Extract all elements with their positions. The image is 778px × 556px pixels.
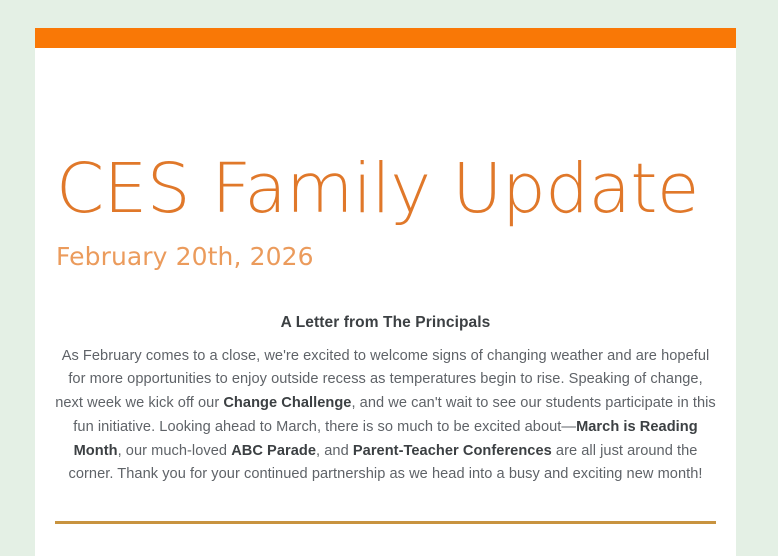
- letter-bold-change-challenge: Change Challenge: [223, 395, 351, 411]
- letter-bold-parent-teacher-conferences: Parent-Teacher Conferences: [353, 443, 552, 459]
- newsletter-title: CES Family Update: [56, 48, 716, 224]
- principals-letter-section: A Letter from The Principals As February…: [35, 314, 736, 488]
- letter-text-part-3: , our much-loved: [118, 443, 232, 459]
- newsletter-card: CES Family Update February 20th, 2026 A …: [35, 28, 736, 556]
- accent-bar: [35, 28, 736, 48]
- newsletter-page: CES Family Update February 20th, 2026 A …: [0, 0, 778, 556]
- letter-paragraph: As February comes to a close, we're exci…: [55, 332, 716, 488]
- card-body: CES Family Update February 20th, 2026 A …: [35, 48, 736, 524]
- letter-bold-abc-parade: ABC Parade: [231, 443, 316, 459]
- divider-container: [35, 521, 736, 524]
- masthead: CES Family Update February 20th, 2026: [35, 48, 736, 271]
- letter-heading: A Letter from The Principals: [55, 314, 716, 332]
- letter-text-part-4: , and: [316, 443, 353, 459]
- newsletter-date: February 20th, 2026: [56, 224, 716, 271]
- section-divider: [55, 521, 716, 524]
